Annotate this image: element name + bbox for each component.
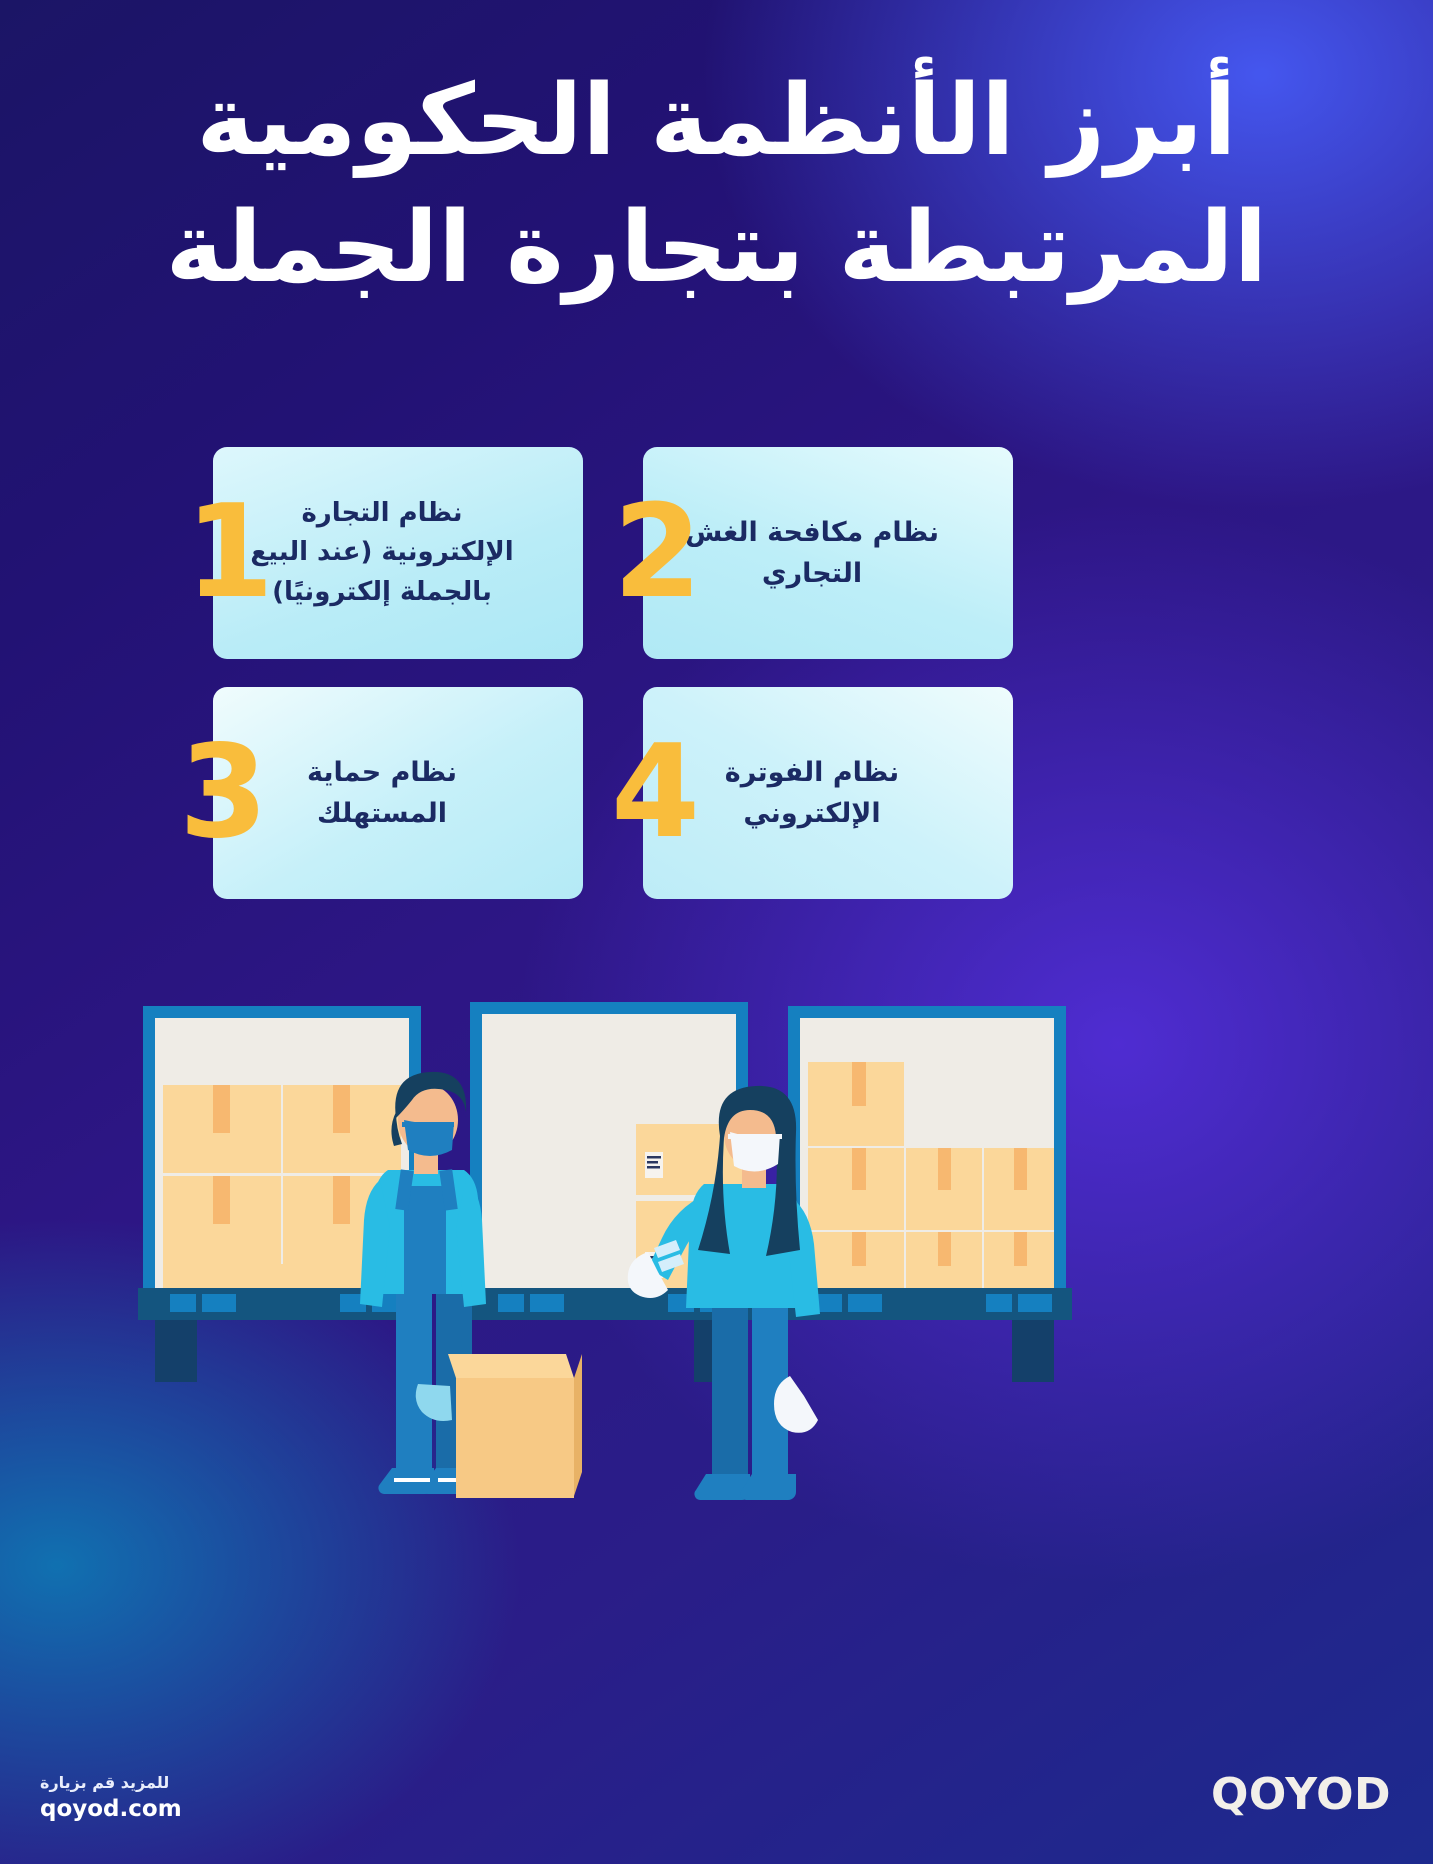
poster-title: أبرز الأنظمة الحكومية المرتبطة بتجارة ال… — [0, 58, 1433, 313]
footer-url[interactable]: qoyod.com — [40, 1795, 182, 1824]
infographic-poster: أبرز الأنظمة الحكومية المرتبطة بتجارة ال… — [0, 0, 1433, 1864]
qoyod-logo-text: QOYOD — [1211, 1769, 1391, 1820]
systems-card-grid: 2 نظام مكافحة الغش التجاري 1 نظام التجار… — [213, 447, 1013, 899]
card-number-2: 2 — [613, 489, 702, 617]
card-label-3: نظام حماية المستهلك — [239, 752, 525, 834]
system-card-3[interactable]: 3 نظام حماية المستهلك — [213, 687, 583, 899]
card-label-4: نظام الفوترة الإلكتروني — [669, 752, 955, 834]
card-label-1: نظام التجارة الإلكترونية (عند البيع بالج… — [239, 494, 525, 613]
title-line-1: أبرز الأنظمة الحكومية — [60, 58, 1373, 185]
warehouse-illustration — [0, 980, 1433, 1540]
truck-right-icon — [784, 1006, 1072, 1382]
system-card-1[interactable]: 1 نظام التجارة الإلكترونية (عند البيع با… — [213, 447, 583, 659]
system-card-2[interactable]: 2 نظام مكافحة الغش التجاري — [643, 447, 1013, 659]
carried-box-icon — [448, 1354, 582, 1498]
qoyod-logo: QOYOD — [1211, 1769, 1391, 1820]
card-label-2: نظام مكافحة الغش التجاري — [669, 512, 955, 594]
card-number-4: 4 — [611, 729, 700, 857]
footer-cta-text: للمزيد قم بزيارة — [40, 1771, 182, 1795]
title-line-2: المرتبطة بتجارة الجملة — [60, 185, 1373, 312]
card-number-3: 3 — [179, 729, 268, 857]
footer-cta: للمزيد قم بزيارة qoyod.com — [40, 1771, 182, 1824]
card-number-1: 1 — [185, 489, 274, 617]
system-card-4[interactable]: 4 نظام الفوترة الإلكتروني — [643, 687, 1013, 899]
